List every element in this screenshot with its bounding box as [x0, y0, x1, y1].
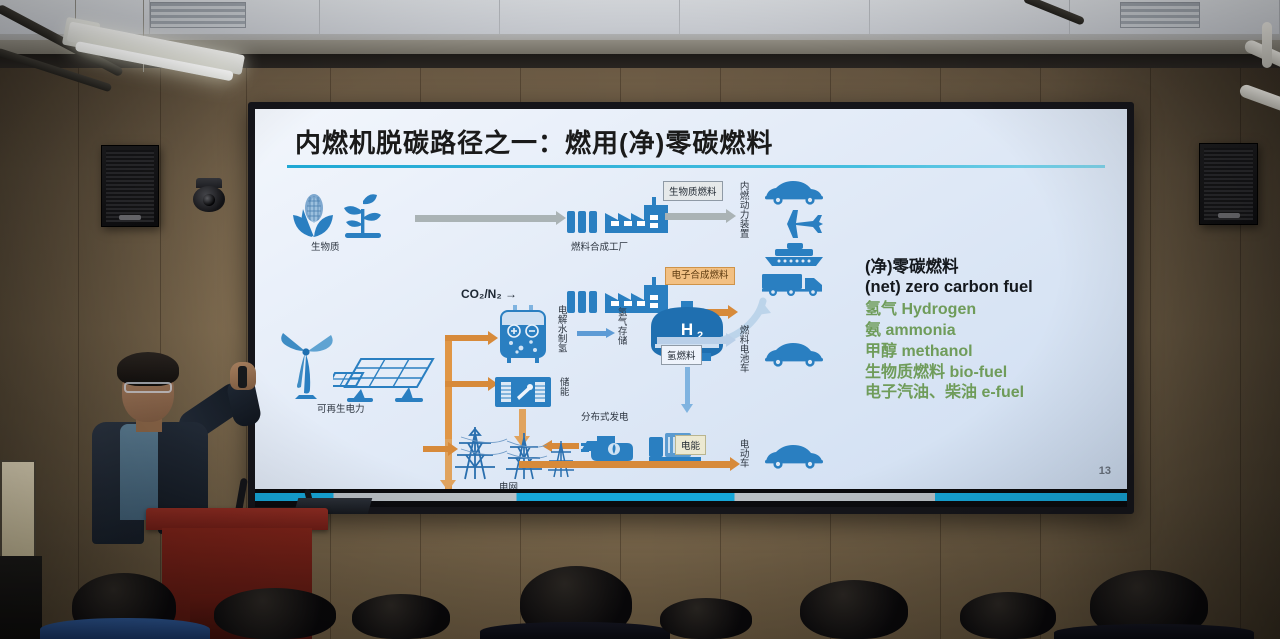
label-h2-storage: 氢气存储 — [615, 307, 626, 361]
label-distributed-generation: 分布式发电 — [581, 413, 629, 423]
ceiling-vent-icon — [150, 2, 246, 28]
car-icon-fcv — [763, 341, 825, 367]
label-fuel-synthesis-plant: 燃料合成工厂 — [571, 243, 628, 253]
energy-storage-icon — [495, 377, 551, 407]
label-ice-powertrain: 内燃动力装置 — [737, 181, 748, 303]
power-lines — [451, 429, 581, 463]
arrow-h2-to-dg — [685, 367, 690, 405]
equipment-cabinet — [0, 556, 42, 639]
biomass-plant-icon — [339, 191, 387, 241]
audience-head — [800, 580, 908, 639]
solar-panel-icon — [333, 355, 437, 405]
label-e-fuel-text: 电子合成燃料 — [671, 270, 728, 281]
fuel-heading-en: (net) zero carbon fuel — [865, 277, 1127, 297]
arrow-biomass-to-plant — [415, 215, 557, 222]
airplane-icon — [765, 207, 825, 241]
label-biomass: 生物质 — [311, 243, 340, 253]
label-e-fuel: 电子合成燃料 — [665, 267, 735, 285]
label-energy-storage: 储能 — [557, 377, 568, 409]
label-electricity: 电能 — [675, 435, 706, 455]
engine-icon — [581, 431, 641, 463]
fuel-item-biofuel: 生物质燃料 bio-fuel — [865, 363, 1127, 384]
electrolyzer-icon — [497, 305, 549, 365]
slide: 内燃机脱碳路径之一：燃用(净)零碳燃料 — [255, 109, 1127, 489]
title-underline — [287, 165, 1105, 168]
presenter-clicker — [238, 366, 247, 388]
presentation-display[interactable]: 内燃机脱碳路径之一：燃用(净)零碳燃料 — [248, 102, 1134, 514]
fuel-heading-cn: (净)零碳燃料 — [865, 257, 1127, 277]
ptz-camera-icon — [192, 178, 226, 212]
arrow-electrolysis-to-h2 — [577, 331, 607, 336]
audience-head — [214, 588, 336, 639]
display-bottom-strip — [255, 493, 1127, 501]
arrow-to-electrolyzer — [445, 335, 489, 341]
arrow-trunk-to-grid-h — [423, 446, 449, 452]
label-grid: 电网 — [499, 483, 518, 489]
audience-shoulder — [1054, 624, 1254, 639]
ceiling-vent-icon — [1120, 2, 1200, 28]
zero-carbon-fuel-panel: (净)零碳燃料 (net) zero carbon fuel 氢气 Hydrog… — [865, 257, 1127, 404]
audience-head — [352, 594, 450, 639]
display-bottom-bezel — [255, 501, 1127, 507]
presenter-glasses — [124, 382, 172, 393]
audience-head — [960, 592, 1056, 639]
fuel-item-methanol: 甲醇 methanol — [865, 342, 1127, 363]
fuel-item-efuel: 电子汽油、柴油 e-fuel — [865, 383, 1127, 404]
ship-icon — [763, 241, 825, 267]
slide-page-number: 13 — [1099, 465, 1111, 477]
label-h2-fuel: 氢燃料 — [661, 345, 702, 365]
fuel-item-ammonia: 氨 ammonia — [865, 321, 1127, 342]
slide-title: 内燃机脱碳路径之一：燃用(净)零碳燃料 — [295, 123, 773, 160]
arrow-biomass-fuel — [665, 213, 727, 220]
arrow-h2-fuel — [657, 337, 727, 344]
fuel-synthesis-plant-icon-top — [567, 197, 673, 239]
truck-icon — [761, 271, 827, 297]
label-fuel-cell-vehicle: 燃料电池车 — [737, 325, 748, 389]
audience-shoulder — [480, 622, 670, 639]
label-biomass-fuel: 生物质燃料 — [663, 181, 723, 201]
biomass-corn-icon — [289, 193, 335, 239]
conference-room-scene: 内燃机脱碳路径之一：燃用(净)零碳燃料 — [0, 0, 1280, 639]
label-co2-n2: CO₂/N₂ → — [461, 288, 517, 301]
audience-shoulder — [40, 618, 210, 639]
arrow-to-storage — [445, 381, 489, 387]
label-electrolysis: 电解水制氢 — [555, 305, 566, 363]
label-ev: 电动车 — [737, 439, 748, 483]
car-icon-ice — [763, 179, 825, 205]
ceiling-pipe-white — [1262, 22, 1272, 68]
fuel-item-hydrogen: 氢气 Hydrogen — [865, 300, 1127, 321]
arrow-electricity — [519, 461, 731, 468]
label-renewable-power: 可再生电力 — [317, 405, 365, 415]
wall-speaker-right — [1199, 143, 1258, 225]
audience-head — [660, 598, 752, 639]
presenter-hair — [117, 352, 179, 386]
wall-speaker-left — [101, 145, 159, 227]
car-icon-ev — [763, 443, 825, 469]
